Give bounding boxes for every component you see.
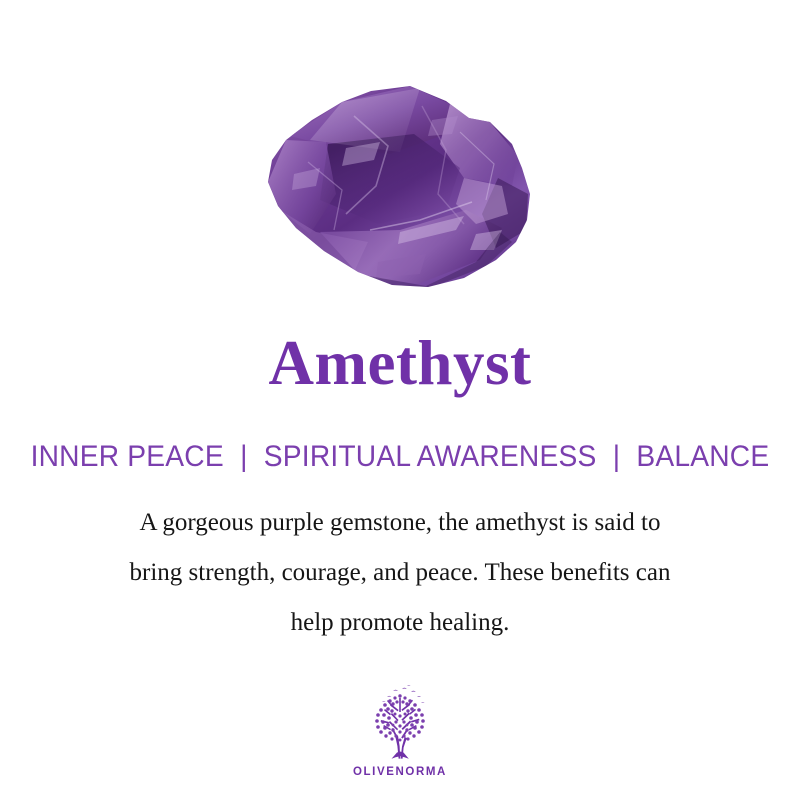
- keyword-separator-1: |: [232, 440, 256, 474]
- brand-logo: OLIVENORMA: [0, 684, 800, 778]
- hero-image-area: [0, 0, 800, 320]
- keyword-balance: BALANCE: [636, 440, 769, 473]
- brand-name: OLIVENORMA: [353, 766, 447, 778]
- keyword-inner-peace: INNER PEACE: [31, 440, 224, 473]
- keyword-spiritual-awareness: SPIRITUAL AWARENESS: [264, 440, 597, 473]
- description-line-2: bring strength, courage, and peace. Thes…: [50, 548, 750, 598]
- description-text: A gorgeous purple gemstone, the amethyst…: [50, 498, 750, 648]
- birds-icon: [382, 685, 425, 703]
- page-title: Amethyst: [0, 330, 800, 396]
- amethyst-stone-image: [250, 82, 550, 292]
- description-line-1: A gorgeous purple gemstone, the amethyst…: [50, 498, 750, 548]
- description-line-3: help promote healing.: [50, 598, 750, 648]
- keyword-separator-2: |: [604, 440, 628, 474]
- amethyst-info-card: Amethyst INNER PEACE | SPIRITUAL AWARENE…: [0, 0, 800, 800]
- keyword-list: INNER PEACE | SPIRITUAL AWARENESS | BALA…: [24, 440, 776, 474]
- tree-of-life-icon: [357, 684, 443, 764]
- amethyst-crystal-illustration: [250, 82, 550, 292]
